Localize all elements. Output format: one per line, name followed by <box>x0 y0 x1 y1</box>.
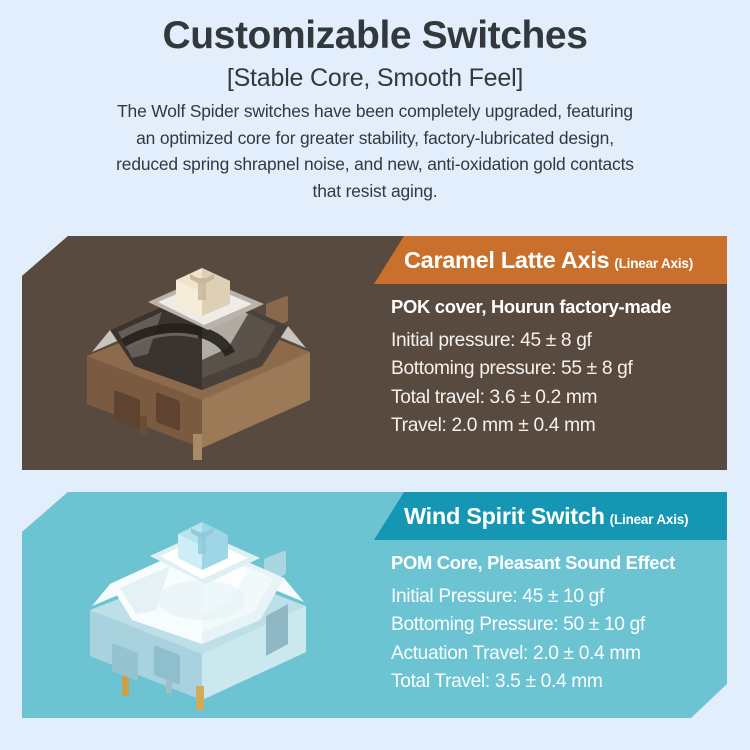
switch-card-caramel-latte: Caramel Latte Axis (Linear Axis) POK cov… <box>22 236 727 470</box>
switch-axis-type: (Linear Axis) <box>614 256 693 271</box>
spec-line: Travel: 2.0 mm ± 0.4 mm <box>391 412 727 440</box>
switch-name: Wind Spirit Switch <box>404 503 605 530</box>
wind-spirit-switch-illustration <box>52 504 352 710</box>
wind-spirit-specs: POM Core, Pleasant Sound Effect Initial … <box>374 540 727 697</box>
infographic-page: Customizable Switches [Stable Core, Smoo… <box>0 0 750 750</box>
spec-line: Total Travel: 3.5 ± 0.4 mm <box>391 668 727 696</box>
caramel-latte-specs: POK cover, Hourun factory-made Initial p… <box>374 284 727 441</box>
wind-spirit-switch-photo <box>22 492 374 718</box>
banner-text: Caramel Latte Axis (Linear Axis) <box>374 247 693 274</box>
spec-line: Initial pressure: 45 ± 8 gf <box>391 327 727 355</box>
page-description: The Wolf Spider switches have been compl… <box>0 98 750 204</box>
description-line-4: that resist aging. <box>28 178 722 204</box>
description-line-3: reduced spring shrapnel noise, and new, … <box>28 151 722 177</box>
caramel-latte-switch-illustration <box>52 248 352 460</box>
description-line-1: The Wolf Spider switches have been compl… <box>28 98 722 124</box>
spec-line: Actuation Travel: 2.0 ± 0.4 mm <box>391 640 727 668</box>
caramel-latte-banner: Caramel Latte Axis (Linear Axis) <box>374 236 727 284</box>
caramel-latte-switch-photo <box>22 236 374 470</box>
switch-axis-type: (Linear Axis) <box>610 512 689 527</box>
header-section: Customizable Switches [Stable Core, Smoo… <box>0 0 750 204</box>
spec-line: Total travel: 3.6 ± 0.2 mm <box>391 384 727 412</box>
spec-line: Initial Pressure: 45 ± 10 gf <box>391 583 727 611</box>
spec-line: Bottoming Pressure: 50 ± 10 gf <box>391 611 727 639</box>
switch-card-wind-spirit: Wind Spirit Switch (Linear Axis) POM Cor… <box>22 492 727 718</box>
switch-feature: POM Core, Pleasant Sound Effect <box>391 552 727 574</box>
spec-line: Bottoming pressure: 55 ± 8 gf <box>391 355 727 383</box>
caramel-latte-info: Caramel Latte Axis (Linear Axis) POK cov… <box>374 236 727 470</box>
switch-name: Caramel Latte Axis <box>404 247 609 274</box>
page-subtitle: [Stable Core, Smooth Feel] <box>0 62 750 95</box>
switch-feature: POK cover, Hourun factory-made <box>391 296 727 318</box>
banner-text: Wind Spirit Switch (Linear Axis) <box>374 503 688 530</box>
wind-spirit-banner: Wind Spirit Switch (Linear Axis) <box>374 492 727 540</box>
page-title: Customizable Switches <box>0 14 750 58</box>
description-line-2: an optimized core for greater stability,… <box>28 125 722 151</box>
wind-spirit-info: Wind Spirit Switch (Linear Axis) POM Cor… <box>374 492 727 718</box>
